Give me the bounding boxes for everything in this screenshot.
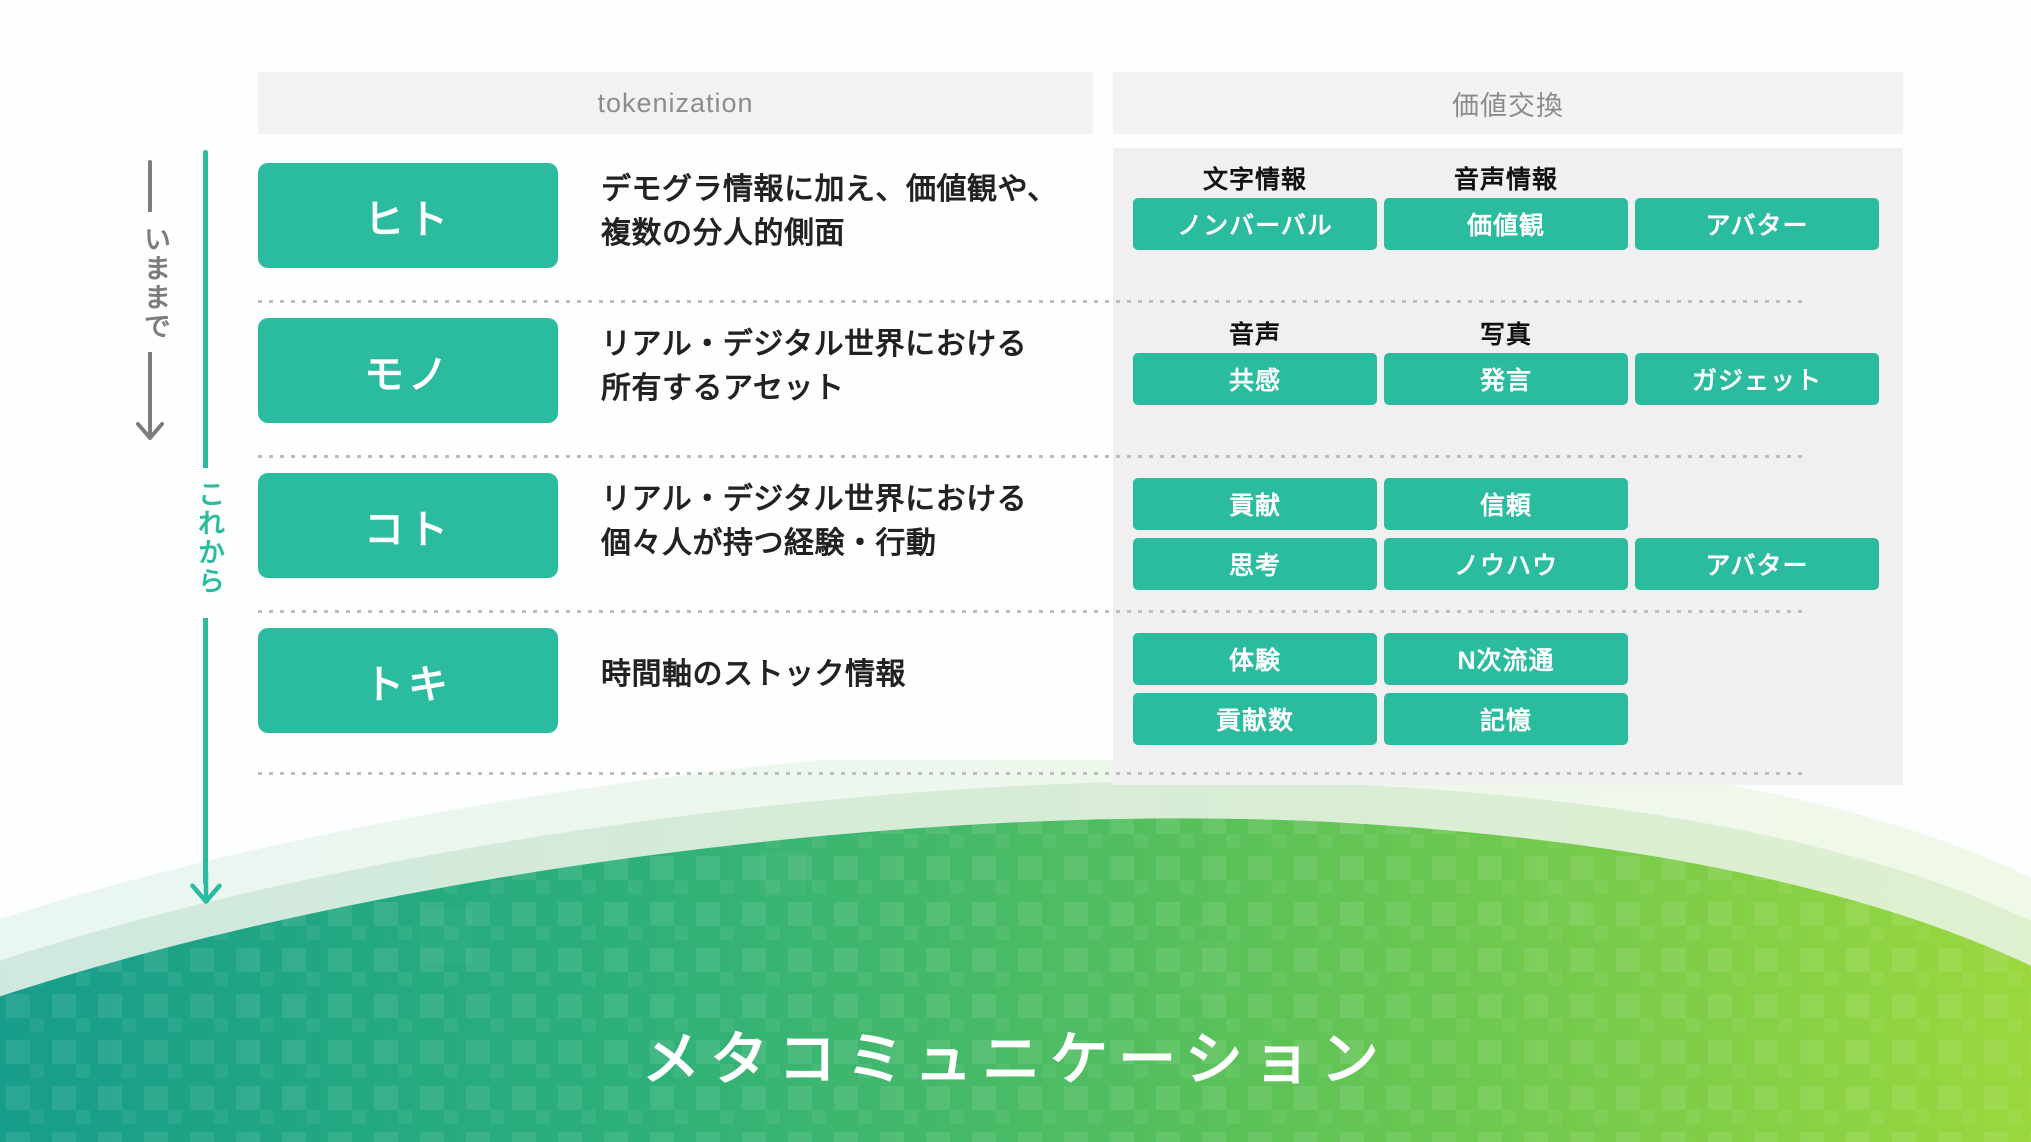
matrix-rows: ヒト デモグラ情報に加え、価値観や、 複数の分人的側面 文字情報 音声情報 ノン… — [258, 150, 1903, 790]
header-value-exchange-label: 価値交換 — [1452, 84, 1564, 123]
chip-label: N次流通 — [1457, 641, 1554, 677]
chip-label: アバター — [1705, 206, 1808, 242]
category-description: リアル・デジタル世界における 個々人が持つ経験・行動 — [601, 478, 1071, 565]
category-description: 時間軸のストック情報 — [601, 653, 1071, 697]
chip-label: アバター — [1705, 546, 1808, 582]
category-description: リアル・デジタル世界における 所有するアセット — [601, 323, 1071, 410]
chip-label: 記憶 — [1480, 701, 1532, 737]
category-description: デモグラ情報に加え、価値観や、 複数の分人的側面 — [601, 168, 1071, 255]
chip-sublabel: 音声 — [1133, 315, 1377, 351]
category-label: コト — [364, 497, 452, 555]
past-axis-label: いままで — [136, 225, 175, 341]
table-row: モノ リアル・デジタル世界における 所有するアセット 音声 写真 共感 発言 ガ… — [258, 305, 1903, 460]
category-box[interactable]: トキ — [258, 628, 558, 733]
chip-group: 文字情報 音声情報 ノンバーバル 価値観 アバター — [1113, 150, 1903, 305]
banner-title: メタコミュニケーション — [0, 1012, 2031, 1096]
chip-row: 貢献 信頼 — [1113, 478, 1903, 530]
timeline-axis: いままで これから — [118, 150, 228, 910]
chip-sublabel: 文字情報 — [1133, 160, 1377, 196]
chip[interactable]: アバター — [1635, 538, 1879, 590]
chip-label: ノンバーバル — [1177, 206, 1333, 242]
table-row: コト リアル・デジタル世界における 個々人が持つ経験・行動 貢献 信頼 思考 ノ… — [258, 460, 1903, 615]
row-divider — [258, 610, 1803, 613]
chip-row: 思考 ノウハウ アバター — [1113, 538, 1903, 590]
future-axis-label: これから — [190, 480, 229, 596]
chip-sublabels: 音声 写真 — [1113, 315, 1903, 349]
chip[interactable]: 体験 — [1133, 633, 1377, 685]
chip[interactable]: 貢献数 — [1133, 693, 1377, 745]
chip[interactable]: 価値観 — [1384, 198, 1628, 250]
chip[interactable]: 思考 — [1133, 538, 1377, 590]
table-row: トキ 時間軸のストック情報 体験 N次流通 貢献数 記憶 — [258, 615, 1903, 770]
header-tokenization-label: tokenization — [597, 88, 753, 119]
chip-label: 発言 — [1480, 361, 1532, 397]
arrow-down-icon — [134, 410, 166, 442]
category-label: モノ — [364, 342, 452, 400]
chip[interactable]: 信頼 — [1384, 478, 1628, 530]
header-tokenization: tokenization — [258, 72, 1093, 134]
chip-sublabels: 文字情報 音声情報 — [1113, 160, 1903, 194]
chip[interactable]: 記憶 — [1384, 693, 1628, 745]
chip[interactable]: ノンバーバル — [1133, 198, 1377, 250]
chip[interactable]: N次流通 — [1384, 633, 1628, 685]
arrow-down-icon — [188, 870, 224, 906]
chip-label: ガジェット — [1692, 361, 1822, 397]
category-label: ヒト — [364, 187, 452, 245]
chip-label: 共感 — [1229, 361, 1281, 397]
row-divider — [258, 300, 1803, 303]
chip-sublabel: 写真 — [1384, 315, 1628, 351]
table-row: ヒト デモグラ情報に加え、価値観や、 複数の分人的側面 文字情報 音声情報 ノン… — [258, 150, 1903, 305]
chip-label: 価値観 — [1467, 206, 1545, 242]
header-value-exchange: 価値交換 — [1113, 72, 1903, 134]
chip-group: 体験 N次流通 貢献数 記憶 — [1113, 615, 1903, 770]
chip[interactable]: 貢献 — [1133, 478, 1377, 530]
category-box[interactable]: ヒト — [258, 163, 558, 268]
chip-row: 貢献数 記憶 — [1113, 693, 1903, 745]
chip-label: ノウハウ — [1454, 546, 1558, 582]
chip-row: 体験 N次流通 — [1113, 633, 1903, 685]
chip[interactable]: アバター — [1635, 198, 1879, 250]
row-divider — [258, 772, 1803, 775]
slide-canvas: メタコミュニケーション tokenization 価値交換 いままで これから … — [0, 0, 2031, 1142]
category-label: トキ — [364, 652, 452, 710]
chip[interactable]: 共感 — [1133, 353, 1377, 405]
chip-label: 貢献 — [1229, 486, 1281, 522]
chip-row: 共感 発言 ガジェット — [1113, 353, 1903, 405]
chip-label: 貢献数 — [1216, 701, 1294, 737]
chip[interactable]: ノウハウ — [1384, 538, 1628, 590]
category-box[interactable]: モノ — [258, 318, 558, 423]
category-box[interactable]: コト — [258, 473, 558, 578]
chip-label: 信頼 — [1480, 486, 1532, 522]
row-divider — [258, 455, 1803, 458]
chip-label: 思考 — [1229, 546, 1281, 582]
chip-row: ノンバーバル 価値観 アバター — [1113, 198, 1903, 250]
chip[interactable]: 発言 — [1384, 353, 1628, 405]
chip[interactable]: ガジェット — [1635, 353, 1879, 405]
chip-group: 音声 写真 共感 発言 ガジェット — [1113, 305, 1903, 460]
chip-sublabel: 音声情報 — [1384, 160, 1628, 196]
chip-label: 体験 — [1229, 641, 1281, 677]
chip-group: 貢献 信頼 思考 ノウハウ アバター — [1113, 460, 1903, 615]
